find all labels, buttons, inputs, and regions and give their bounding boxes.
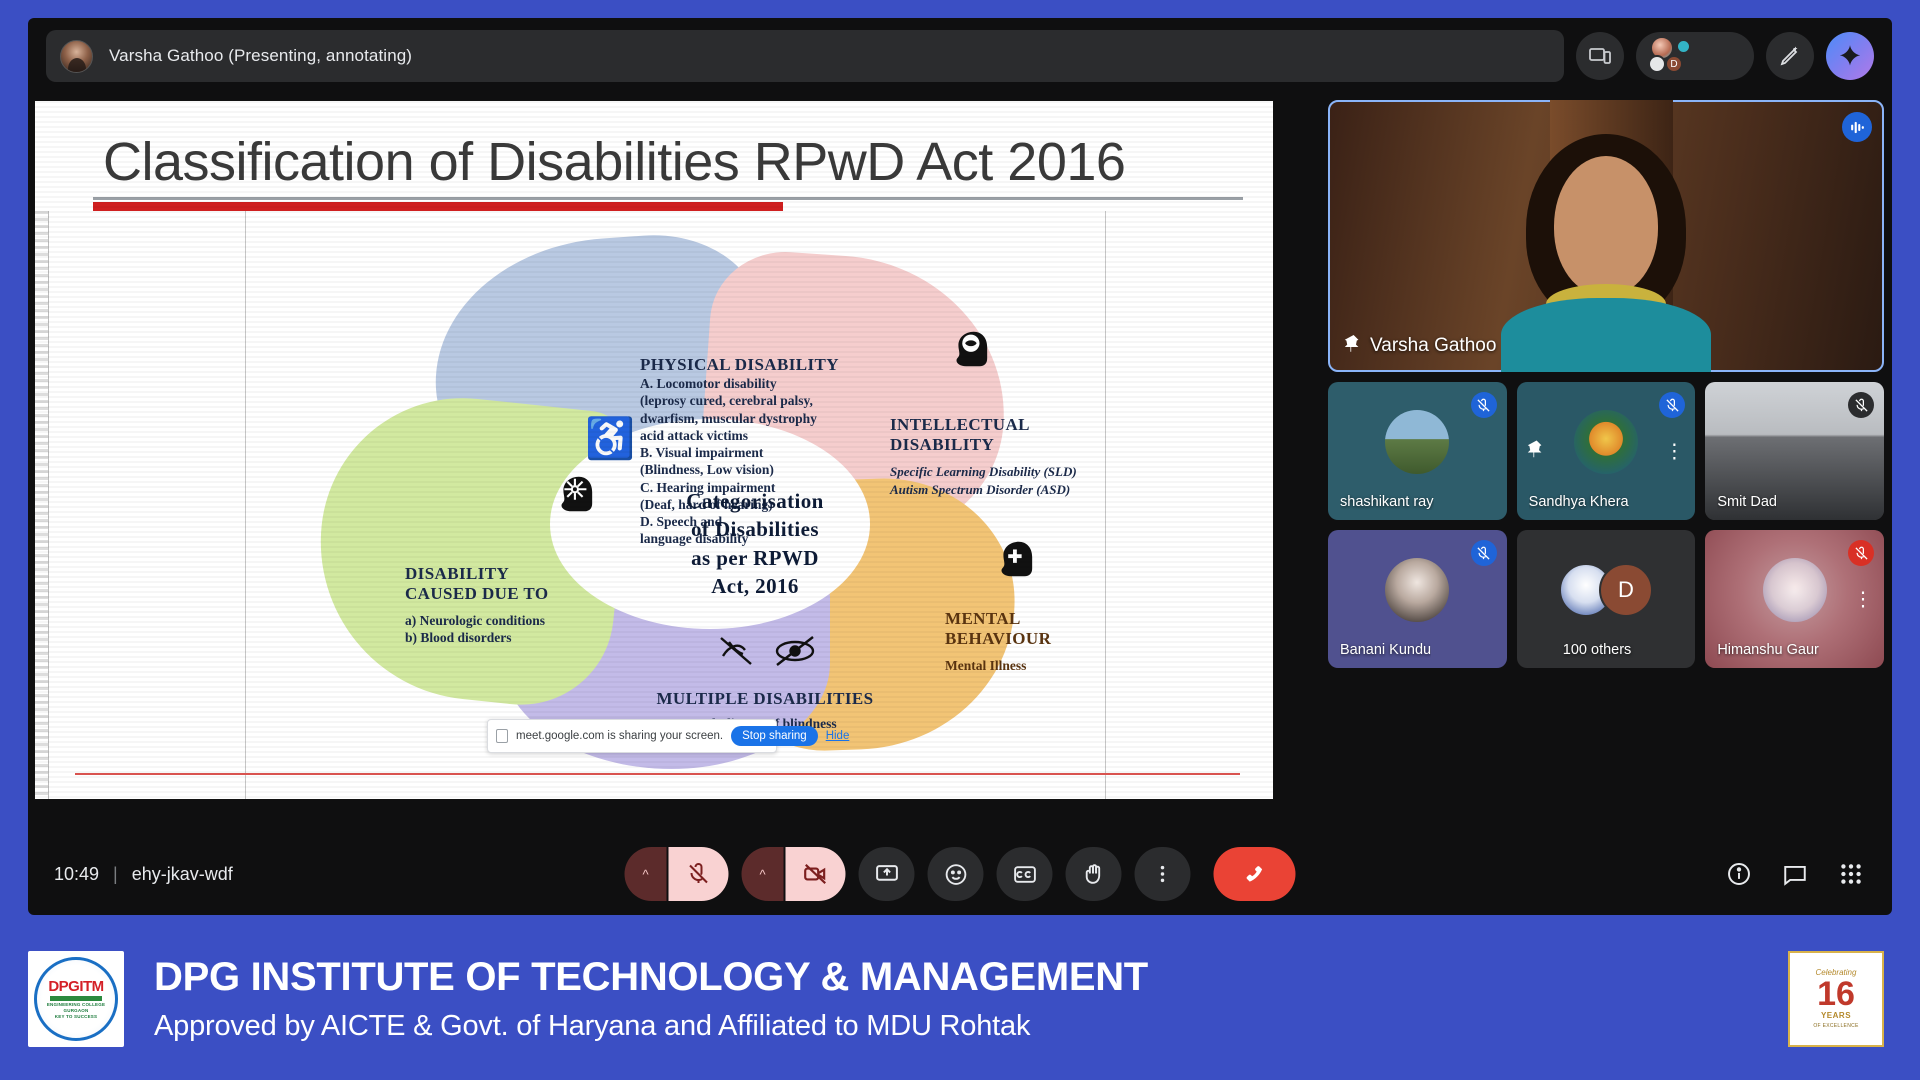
mic-muted-icon	[1848, 540, 1874, 566]
meeting-code: ehy-jkav-wdf	[132, 864, 233, 885]
participant-grid: shashikant ray	[1328, 382, 1884, 668]
presenter-avatar-icon	[60, 40, 93, 73]
hide-share-bar-button[interactable]: Hide	[826, 730, 850, 742]
disability-wheel-diagram: ♿	[285, 219, 1115, 789]
stacked-avatars: D	[1559, 563, 1653, 617]
badge-years-label: YEARS	[1821, 1011, 1851, 1020]
gemini-sparkle-icon[interactable]	[1826, 32, 1874, 80]
cast-this-meeting-icon[interactable]	[1576, 32, 1624, 80]
active-speaker-tile[interactable]: Varsha Gathoo	[1328, 100, 1884, 372]
presenter-chip[interactable]: Varsha Gathoo (Presenting, annotating)	[46, 30, 1564, 82]
mental-line-1: Mental Illness	[945, 657, 1125, 674]
logo-line-3: KEY TO SUCCESS	[55, 1014, 97, 1019]
logo-emblem-icon: DPGITM ENGINEERING COLLEGE GURGAON KEY T…	[34, 957, 118, 1041]
physical-line-6: (Blindness, Low vision)	[640, 461, 860, 478]
mental-head-plus-icon	[990, 539, 1036, 588]
leave-call-button[interactable]	[1214, 847, 1296, 901]
avatar	[1385, 410, 1449, 474]
title-underline-grey	[93, 197, 1243, 200]
physical-line-4: acid attack victims	[640, 427, 860, 444]
physical-line-3: dwarfism, muscular dystrophy	[640, 410, 860, 427]
caused-heading-2: CAUSED DUE TO	[405, 584, 655, 604]
camera-control-group: ^	[742, 847, 846, 901]
banner-text-block: DPG INSTITUTE OF TECHNOLOGY & MANAGEMENT…	[154, 954, 1148, 1043]
microphone-muted-button[interactable]	[669, 847, 729, 901]
mental-heading-1: MENTAL	[945, 609, 1125, 629]
wheel-center-label: Categorisation of Disabilities as per RP…	[630, 487, 880, 600]
speaker-name-label: Varsha Gathoo	[1370, 335, 1496, 357]
emoji-reaction-button[interactable]	[928, 847, 984, 901]
intellectual-disability-text: INTELLECTUAL DISABILITY Specific Learnin…	[890, 415, 1125, 498]
raise-hand-button[interactable]	[1066, 847, 1122, 901]
more-options-icon[interactable]: ⋮	[1853, 587, 1874, 612]
participant-tile-sandhya-khera[interactable]: ⋮ Sandhya Khera	[1517, 382, 1696, 520]
caused-heading-1: DISABILITY	[405, 564, 655, 584]
participant-tile-smit-dad[interactable]: Smit Dad	[1705, 382, 1884, 520]
shared-screen-panel[interactable]: Classification of Disabilities RPwD Act …	[34, 100, 1274, 800]
center-line-3: as per RPWD	[630, 544, 880, 572]
more-options-icon[interactable]: ⋮	[1664, 439, 1685, 464]
participant-tile-shashikant-ray[interactable]: shashikant ray	[1328, 382, 1507, 520]
pin-icon[interactable]	[1527, 440, 1543, 463]
center-line-2: of Disabilities	[630, 515, 880, 543]
stop-sharing-button[interactable]: Stop sharing	[731, 726, 818, 746]
camera-options-caret[interactable]: ^	[742, 847, 784, 901]
participant-name: 100 others	[1517, 642, 1678, 658]
screen-root: Varsha Gathoo (Presenting, annotating) D	[0, 0, 1920, 1080]
wheelchair-icon: ♿	[585, 419, 635, 459]
share-message: meet.google.com is sharing your screen.	[516, 730, 723, 742]
slide-bottom-rule	[75, 773, 1240, 775]
logo-line-2: GURGAON	[64, 1008, 89, 1013]
speaker-name-row: Varsha Gathoo	[1344, 334, 1496, 358]
chat-icon[interactable]	[1780, 859, 1810, 889]
participant-name: Sandhya Khera	[1529, 494, 1629, 510]
microphone-control-group: ^	[625, 847, 729, 901]
mic-muted-icon	[1848, 392, 1874, 418]
caused-due-to-text: DISABILITY CAUSED DUE TO a) Neurologic c…	[405, 564, 655, 647]
logo-line-1: ENGINEERING COLLEGE	[47, 1002, 105, 1007]
badge-number: 16	[1817, 977, 1855, 1011]
center-line-1: Categorisation	[630, 487, 880, 515]
logo-initials: DPGITM	[48, 978, 103, 995]
google-meet-window: Varsha Gathoo (Presenting, annotating) D	[28, 18, 1892, 915]
intellectual-line-2: Autism Spectrum Disorder (ASD)	[890, 481, 1125, 499]
participant-name: Himanshu Gaur	[1717, 642, 1819, 658]
deaf-blind-icon	[715, 634, 835, 674]
document-ruler	[35, 211, 49, 799]
title-underline-red	[93, 202, 783, 211]
more-options-button[interactable]	[1135, 847, 1191, 901]
physical-line-5: B. Visual impairment	[640, 444, 860, 461]
pinned-icon	[1344, 334, 1360, 358]
meeting-meta: 10:49 | ehy-jkav-wdf	[54, 864, 233, 885]
stack-avatar-2	[1676, 39, 1691, 54]
center-line-4: Act, 2016	[630, 572, 880, 600]
institute-banner: DPGITM ENGINEERING COLLEGE GURGAON KEY T…	[0, 917, 1920, 1080]
caused-line-1: a) Neurologic conditions	[405, 612, 655, 629]
jamboard-icon[interactable]	[1842, 112, 1872, 142]
physical-line-1: A. Locomotor disability	[640, 375, 860, 392]
institute-name: DPG INSTITUTE OF TECHNOLOGY & MANAGEMENT	[154, 954, 1148, 1000]
participant-name: Banani Kundu	[1340, 642, 1431, 658]
multiple-heading: MULTIPLE DISABILITIES	[600, 689, 930, 709]
intellectual-line-1: Specific Learning Disability (SLD)	[890, 463, 1125, 481]
mic-muted-icon	[1471, 540, 1497, 566]
avatar-stack: D	[1648, 36, 1694, 76]
meta-separator: |	[113, 864, 118, 885]
mic-muted-icon	[1659, 392, 1685, 418]
meeting-details-icon[interactable]	[1724, 859, 1754, 889]
brain-head-icon	[945, 329, 991, 376]
logo-bar	[50, 996, 102, 1001]
avatar	[1385, 558, 1449, 622]
participant-tile-banani-kundu[interactable]: Banani Kundu	[1328, 530, 1507, 668]
annotate-pen-icon[interactable]	[1766, 32, 1814, 80]
participant-tile-himanshu-gaur[interactable]: ⋮ Himanshu Gaur	[1705, 530, 1884, 668]
participant-name: shashikant ray	[1340, 494, 1434, 510]
physical-heading: PHYSICAL DISABILITY	[640, 355, 860, 375]
badge-bottom-label: OF EXCELLENCE	[1813, 1023, 1858, 1029]
mental-behaviour-text: MENTAL BEHAVIOUR Mental Illness	[945, 609, 1125, 674]
stack-avatar-4: D	[1665, 55, 1683, 73]
avatar	[1574, 410, 1638, 474]
screen-share-notification-bar: meet.google.com is sharing your screen. …	[487, 719, 777, 753]
participant-stack-pill[interactable]: D	[1636, 32, 1754, 80]
stack-avatar-3	[1648, 55, 1666, 73]
anniversary-badge: Celebrating 16 YEARS OF EXCELLENCE	[1788, 951, 1884, 1047]
speaker-video-figure	[1491, 128, 1721, 372]
participants-rail: Varsha Gathoo s	[1328, 100, 1884, 829]
participant-tile-other-participants[interactable]: D 100 others	[1517, 530, 1696, 668]
captions-button[interactable]	[997, 847, 1053, 901]
intellectual-heading-1: INTELLECTUAL	[890, 415, 1125, 435]
presenter-name-label: Varsha Gathoo (Presenting, annotating)	[109, 46, 412, 66]
participant-name: Smit Dad	[1717, 494, 1777, 510]
activities-grid-icon[interactable]	[1836, 859, 1866, 889]
screen-share-icon	[496, 729, 508, 743]
intellectual-heading-2: DISABILITY	[890, 435, 1125, 455]
physical-line-2: (leprosy cured, cerebral palsy,	[640, 392, 860, 409]
document-margin-line-left	[245, 211, 246, 799]
meet-stage: Classification of Disabilities RPwD Act …	[28, 94, 1892, 833]
bottom-right-controls	[1724, 859, 1866, 889]
slide-title: Classification of Disabilities RPwD Act …	[103, 131, 1125, 193]
meet-top-bar: Varsha Gathoo (Presenting, annotating) D	[28, 18, 1892, 94]
neuro-head-icon	[550, 474, 596, 523]
mic-muted-icon	[1471, 392, 1497, 418]
institute-affiliation: Approved by AICTE & Govt. of Haryana and…	[154, 1010, 1148, 1043]
meeting-time: 10:49	[54, 864, 99, 885]
camera-off-button[interactable]	[786, 847, 846, 901]
institute-logo: DPGITM ENGINEERING COLLEGE GURGAON KEY T…	[28, 951, 124, 1047]
other-avatar-2: D	[1599, 563, 1653, 617]
present-now-button[interactable]	[859, 847, 915, 901]
mental-heading-2: BEHAVIOUR	[945, 629, 1125, 649]
call-controls: ^ ^	[625, 847, 1296, 901]
meet-bottom-bar: 10:49 | ehy-jkav-wdf ^ ^	[28, 833, 1892, 915]
caused-line-2: b) Blood disorders	[405, 629, 655, 646]
mic-options-caret[interactable]: ^	[625, 847, 667, 901]
